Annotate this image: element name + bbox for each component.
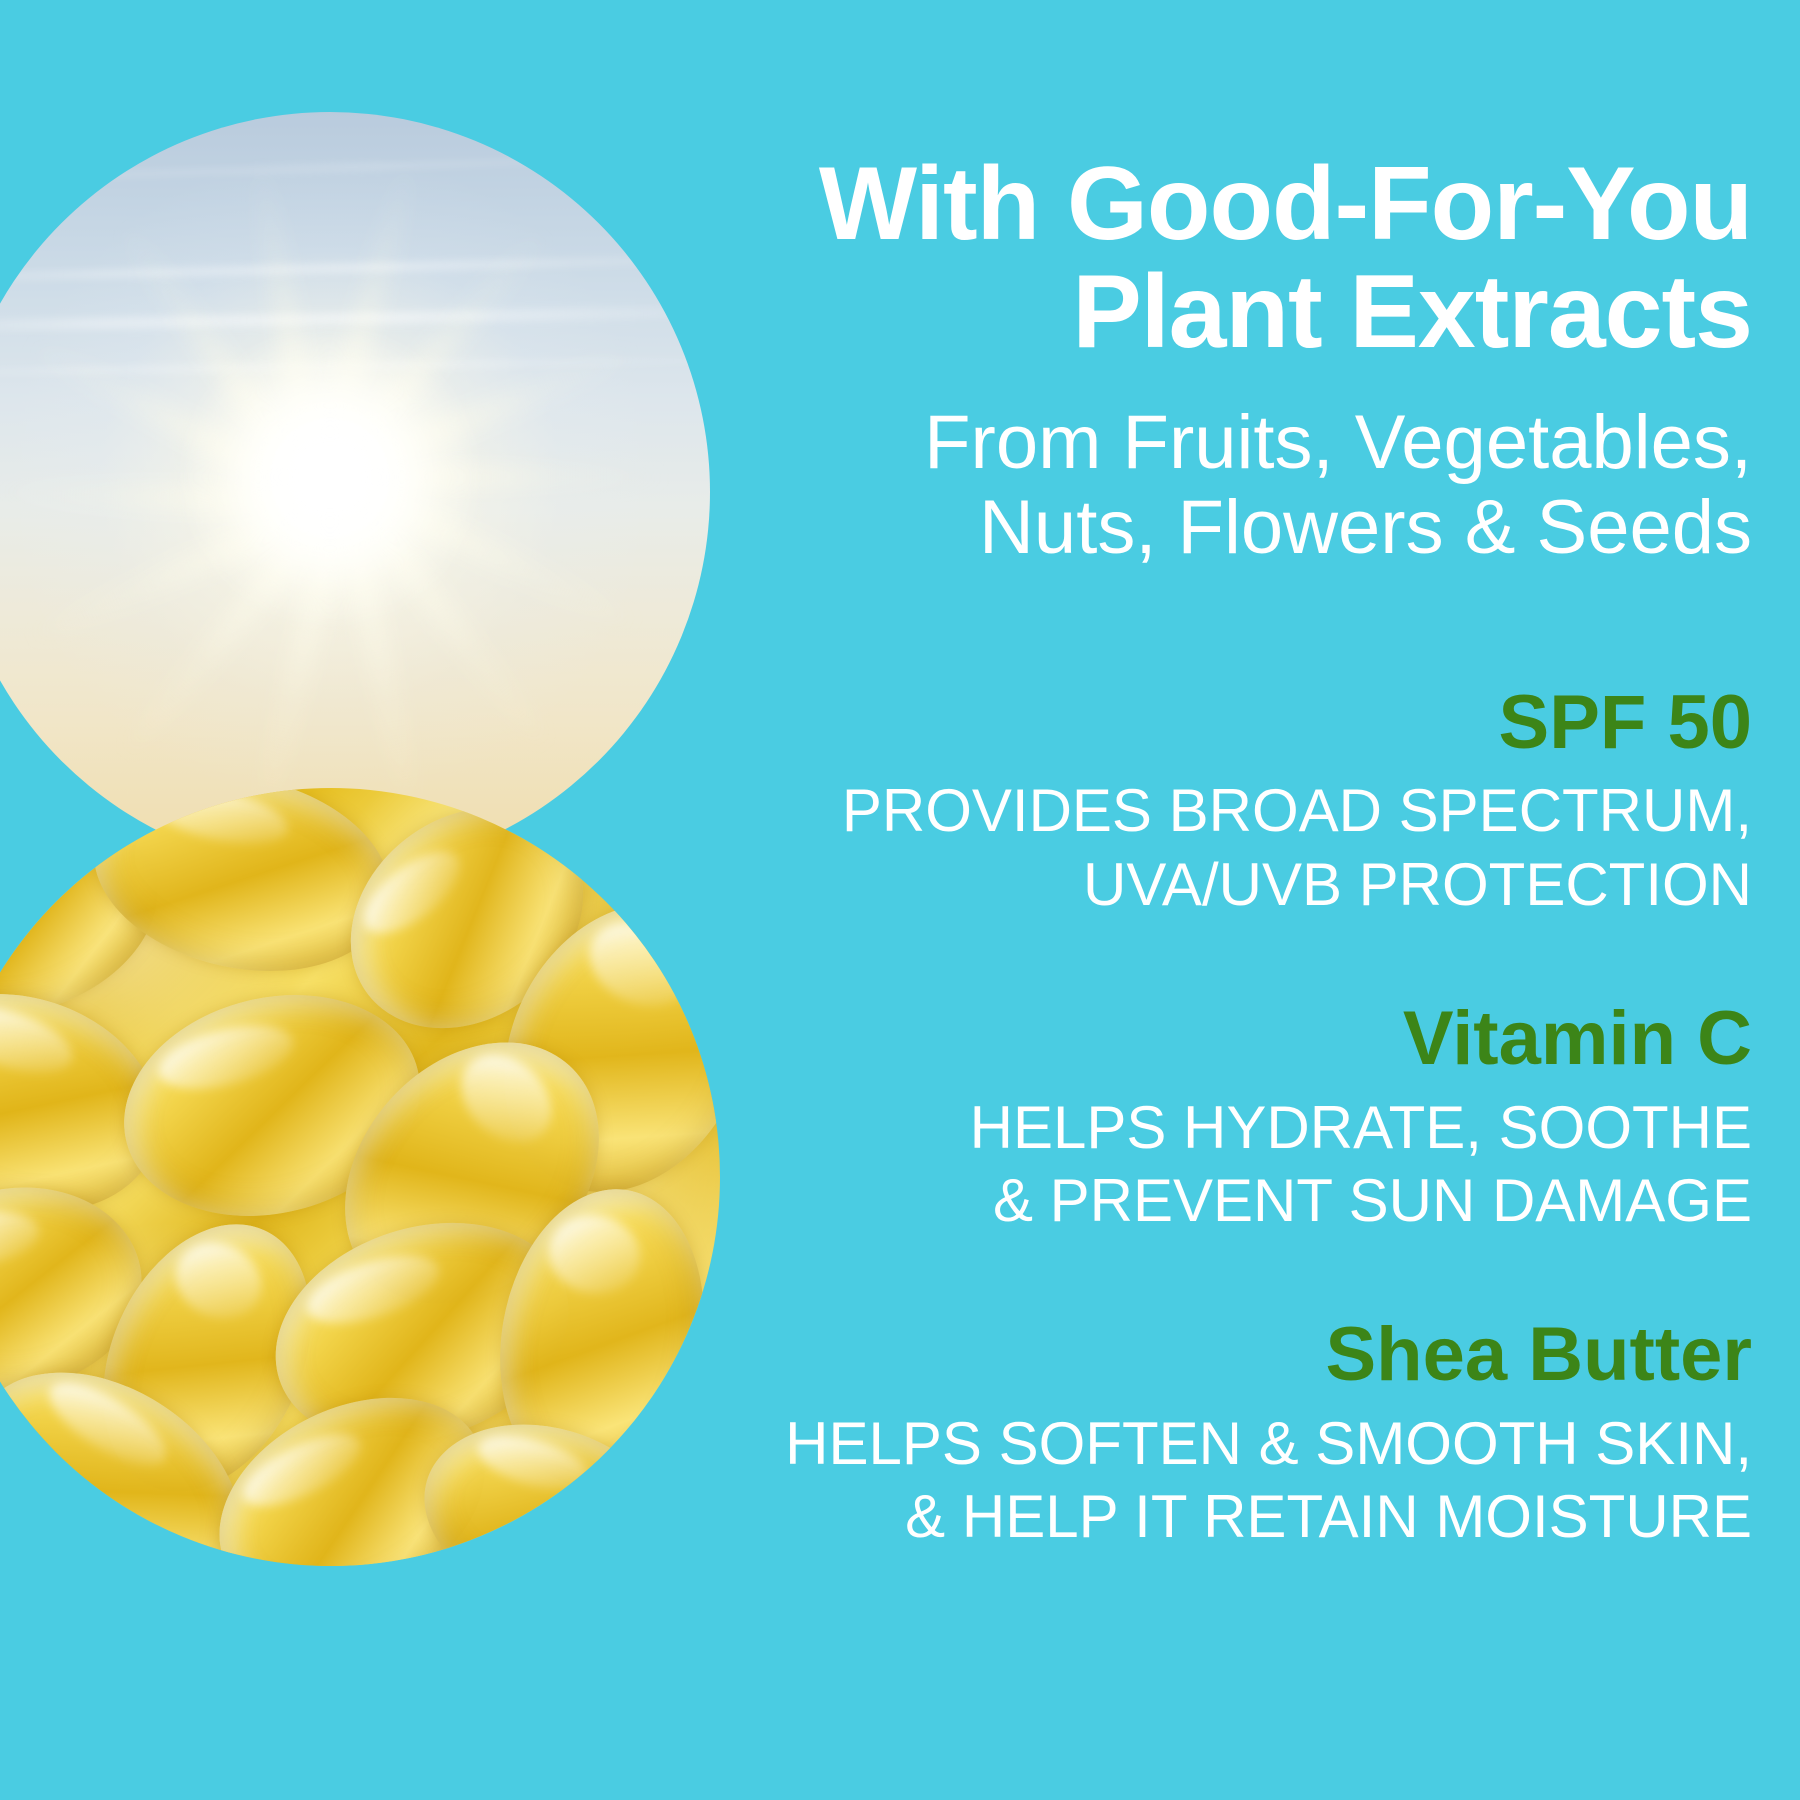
sun-core: [180, 327, 480, 627]
benefit-description: HELPS SOFTEN & SMOOTH SKIN, & HELP IT RE…: [612, 1407, 1752, 1553]
benefit-description-line-2: & PREVENT SUN DAMAGE: [612, 1164, 1752, 1237]
headline-line-2: Plant Extracts: [1072, 254, 1752, 370]
subheadline: From Fruits, Vegetables, Nuts, Flowers &…: [612, 400, 1752, 570]
benefit-vitamin-c: Vitamin C HELPS HYDRATE, SOOTHE & PREVEN…: [612, 999, 1752, 1237]
text-column: With Good-For-You Plant Extracts From Fr…: [612, 0, 1752, 1800]
benefit-title: SPF 50: [612, 683, 1752, 763]
product-feature-poster: With Good-For-You Plant Extracts From Fr…: [0, 0, 1800, 1800]
subheadline-line-2: Nuts, Flowers & Seeds: [612, 485, 1752, 570]
benefit-description: HELPS HYDRATE, SOOTHE & PREVENT SUN DAMA…: [612, 1091, 1752, 1237]
benefit-description-line-2: & HELP IT RETAIN MOISTURE: [612, 1480, 1752, 1553]
cloud-streak: [0, 151, 710, 186]
benefit-description-line-1: PROVIDES BROAD SPECTRUM,: [612, 774, 1752, 847]
benefit-title: Shea Butter: [612, 1315, 1752, 1395]
benefit-title: Vitamin C: [612, 999, 1752, 1079]
headline: With Good-For-You Plant Extracts: [612, 150, 1752, 366]
benefit-shea-butter: Shea Butter HELPS SOFTEN & SMOOTH SKIN, …: [612, 1315, 1752, 1553]
cloud-streak: [0, 253, 710, 284]
sun-photo: [0, 112, 710, 872]
subheadline-line-1: From Fruits, Vegetables,: [612, 400, 1752, 485]
benefit-description: PROVIDES BROAD SPECTRUM, UVA/UVB PROTECT…: [612, 774, 1752, 920]
headline-line-1: With Good-For-You: [819, 146, 1752, 262]
benefit-description-line-1: HELPS HYDRATE, SOOTHE: [612, 1091, 1752, 1164]
benefit-description-line-2: UVA/UVB PROTECTION: [612, 848, 1752, 921]
benefit-description-line-1: HELPS SOFTEN & SMOOTH SKIN,: [612, 1407, 1752, 1480]
benefit-spf-50: SPF 50 PROVIDES BROAD SPECTRUM, UVA/UVB …: [612, 683, 1752, 921]
